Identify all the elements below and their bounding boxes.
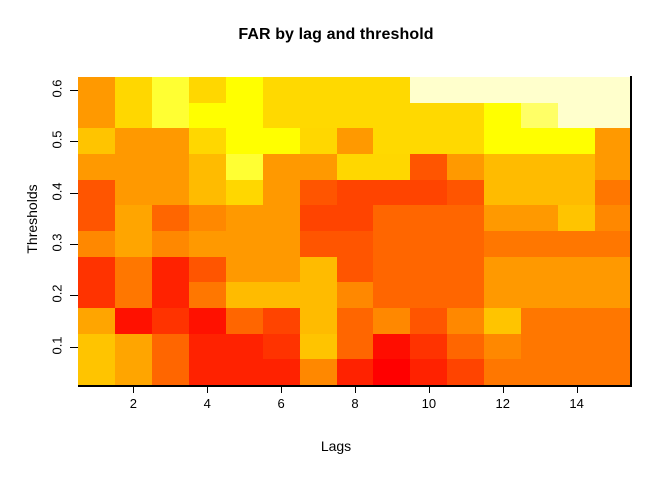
- heatmap-cell: [521, 128, 558, 154]
- heatmap-cell: [484, 77, 521, 103]
- heatmap-cell: [226, 282, 263, 308]
- x-axis-tick: [577, 386, 578, 393]
- heatmap-cell: [115, 334, 152, 360]
- heatmap-cell: [410, 103, 447, 129]
- heatmap-cell: [595, 308, 632, 334]
- heatmap-cell: [484, 308, 521, 334]
- heatmap-cell: [152, 128, 189, 154]
- heatmap-cell: [226, 180, 263, 206]
- heatmap-cell: [373, 180, 410, 206]
- heatmap-cell: [373, 128, 410, 154]
- heatmap-cell: [189, 128, 226, 154]
- heatmap-cell: [78, 77, 115, 103]
- heatmap-cell: [189, 231, 226, 257]
- heatmap-cell: [410, 282, 447, 308]
- heatmap-cell: [337, 180, 374, 206]
- heatmap-cell: [152, 282, 189, 308]
- heatmap-cell: [152, 257, 189, 283]
- heatmap-cell: [373, 103, 410, 129]
- heatmap-cell: [300, 334, 337, 360]
- heatmap-cell: [373, 205, 410, 231]
- heatmap-cell: [447, 257, 484, 283]
- heatmap-cell: [558, 128, 595, 154]
- heatmap-cell: [595, 282, 632, 308]
- heatmap-cell: [410, 205, 447, 231]
- heatmap-cell: [484, 282, 521, 308]
- heatmap-cell: [78, 205, 115, 231]
- heatmap-cell: [78, 180, 115, 206]
- page-title: FAR by lag and threshold: [0, 26, 672, 44]
- heatmap-cell: [300, 359, 337, 385]
- heatmap-cell: [595, 128, 632, 154]
- heatmap-cell: [558, 180, 595, 206]
- heatmap-cell: [115, 103, 152, 129]
- heatmap-cell: [595, 231, 632, 257]
- heatmap-cell: [521, 359, 558, 385]
- heatmap-cell: [189, 359, 226, 385]
- heatmap-cell: [337, 77, 374, 103]
- heatmap-cell: [189, 103, 226, 129]
- heatmap-cell: [189, 154, 226, 180]
- y-axis-tick: [70, 295, 78, 296]
- heatmap-cell: [300, 308, 337, 334]
- heatmap-chart: FAR by lag and threshold 2468101214 0.10…: [0, 0, 672, 480]
- heatmap-cell: [595, 334, 632, 360]
- heatmap-cell: [373, 231, 410, 257]
- heatmap-cell: [226, 334, 263, 360]
- heatmap-cell: [558, 257, 595, 283]
- heatmap-cell: [78, 103, 115, 129]
- heatmap-cell: [521, 308, 558, 334]
- heatmap-cell: [521, 154, 558, 180]
- heatmap-cell: [337, 282, 374, 308]
- heatmap-cell: [300, 180, 337, 206]
- heatmap-cell: [189, 77, 226, 103]
- heatmap-cell: [226, 359, 263, 385]
- heatmap-cell: [152, 154, 189, 180]
- heatmap-cell: [447, 282, 484, 308]
- heatmap-cell: [263, 154, 300, 180]
- heatmap-cell: [447, 128, 484, 154]
- heatmap-cell: [263, 231, 300, 257]
- heatmap-cell: [115, 257, 152, 283]
- heatmap-cell: [521, 257, 558, 283]
- heatmap-cell: [115, 77, 152, 103]
- heatmap-cell: [484, 103, 521, 129]
- x-axis-tick-label: 4: [187, 396, 227, 411]
- heatmap-cell: [337, 205, 374, 231]
- heatmap-cell: [595, 77, 632, 103]
- heatmap-cell: [447, 77, 484, 103]
- heatmap-cell: [78, 282, 115, 308]
- heatmap-cell: [410, 334, 447, 360]
- heatmap-cell: [78, 231, 115, 257]
- heatmap-cell: [484, 205, 521, 231]
- y-axis-tick-label: 0.6: [0, 81, 66, 96]
- heatmap-cell: [558, 282, 595, 308]
- heatmap-cell: [189, 205, 226, 231]
- heatmap-cell: [263, 308, 300, 334]
- heatmap-cell: [595, 257, 632, 283]
- heatmap-cell: [226, 77, 263, 103]
- x-axis-tick: [503, 386, 504, 393]
- y-axis-tick: [70, 193, 78, 194]
- heatmap-cell: [78, 359, 115, 385]
- heatmap-cell: [410, 180, 447, 206]
- y-axis-tick: [70, 244, 78, 245]
- heatmap-cell: [152, 205, 189, 231]
- heatmap-cell: [115, 231, 152, 257]
- heatmap-cell: [337, 154, 374, 180]
- heatmap-cell: [300, 103, 337, 129]
- y-axis-line: [630, 76, 632, 386]
- y-axis-tick: [70, 90, 78, 91]
- heatmap-cell: [189, 257, 226, 283]
- heatmap-cell: [115, 128, 152, 154]
- heatmap-cell: [263, 257, 300, 283]
- heatmap-cell: [410, 359, 447, 385]
- heatmap-cell: [447, 180, 484, 206]
- heatmap-cell: [115, 180, 152, 206]
- heatmap-cell: [447, 154, 484, 180]
- heatmap-cell: [484, 359, 521, 385]
- heatmap-cell: [300, 128, 337, 154]
- heatmap-cell: [484, 231, 521, 257]
- heatmap-cell: [558, 359, 595, 385]
- heatmap-cell: [373, 154, 410, 180]
- heatmap-cell: [447, 205, 484, 231]
- heatmap-cell: [263, 103, 300, 129]
- heatmap-cell: [373, 77, 410, 103]
- heatmap-cell: [115, 154, 152, 180]
- heatmap-cell: [300, 205, 337, 231]
- heatmap-cell: [152, 334, 189, 360]
- heatmap-cell: [373, 282, 410, 308]
- heatmap-cell: [447, 231, 484, 257]
- heatmap-cell: [263, 334, 300, 360]
- heatmap-cell: [558, 308, 595, 334]
- heatmap-cell: [410, 128, 447, 154]
- heatmap-cell: [595, 359, 632, 385]
- heatmap-cell: [373, 257, 410, 283]
- heatmap-cell: [115, 308, 152, 334]
- heatmap-cell: [373, 308, 410, 334]
- heatmap-cell: [300, 77, 337, 103]
- heatmap-cell: [447, 308, 484, 334]
- heatmap-cell: [78, 128, 115, 154]
- heatmap-cell: [263, 205, 300, 231]
- x-axis-tick: [355, 386, 356, 393]
- plot-panel: [78, 77, 632, 385]
- heatmap-cell: [189, 180, 226, 206]
- x-axis-tick-label: 8: [335, 396, 375, 411]
- heatmap-cell: [521, 334, 558, 360]
- heatmap-cell: [558, 334, 595, 360]
- heatmap-cell: [337, 359, 374, 385]
- x-axis-tick-label: 6: [261, 396, 301, 411]
- heatmap-cell: [337, 103, 374, 129]
- heatmap-cell: [263, 180, 300, 206]
- heatmap-cell: [595, 103, 632, 129]
- heatmap-cell: [484, 334, 521, 360]
- heatmap-cell: [189, 282, 226, 308]
- x-axis-tick-label: 14: [557, 396, 597, 411]
- heatmap-cell: [447, 103, 484, 129]
- heatmap-cell: [78, 154, 115, 180]
- x-axis-tick: [281, 386, 282, 393]
- x-axis-tick: [133, 386, 134, 393]
- heatmap-cell: [484, 180, 521, 206]
- x-axis-tick-label: 10: [409, 396, 449, 411]
- heatmap-cell: [263, 77, 300, 103]
- heatmap-cell: [78, 257, 115, 283]
- heatmap-cell: [558, 103, 595, 129]
- y-axis-tick: [70, 347, 78, 348]
- heatmap-cell: [300, 154, 337, 180]
- heatmap-cell: [337, 128, 374, 154]
- heatmap-cell: [78, 334, 115, 360]
- heatmap-cell: [263, 359, 300, 385]
- x-axis-tick-label: 2: [113, 396, 153, 411]
- heatmap-cell: [484, 154, 521, 180]
- heatmap-cell: [447, 334, 484, 360]
- heatmap-cell: [226, 308, 263, 334]
- heatmap-cell: [152, 231, 189, 257]
- heatmap-cell: [558, 154, 595, 180]
- heatmap-cell: [337, 257, 374, 283]
- heatmap-cell: [373, 359, 410, 385]
- heatmap-cell: [521, 205, 558, 231]
- x-axis-title: Lags: [0, 438, 672, 454]
- heatmap-cell: [558, 205, 595, 231]
- heatmap-cell: [152, 359, 189, 385]
- heatmap-cell: [189, 334, 226, 360]
- heatmap-cell: [115, 205, 152, 231]
- heatmap-cell: [595, 180, 632, 206]
- heatmap-cell: [558, 231, 595, 257]
- heatmap-cell: [300, 257, 337, 283]
- heatmap-cell: [337, 308, 374, 334]
- heatmap-cell: [410, 77, 447, 103]
- heatmap-cell: [226, 154, 263, 180]
- heatmap-grid: [78, 77, 632, 385]
- heatmap-cell: [337, 231, 374, 257]
- heatmap-cell: [558, 77, 595, 103]
- heatmap-cell: [595, 154, 632, 180]
- heatmap-cell: [484, 257, 521, 283]
- heatmap-cell: [521, 77, 558, 103]
- heatmap-cell: [263, 282, 300, 308]
- heatmap-cell: [410, 154, 447, 180]
- heatmap-cell: [226, 205, 263, 231]
- heatmap-cell: [152, 77, 189, 103]
- heatmap-cell: [447, 359, 484, 385]
- heatmap-cell: [521, 282, 558, 308]
- heatmap-cell: [337, 334, 374, 360]
- heatmap-cell: [410, 231, 447, 257]
- heatmap-cell: [115, 359, 152, 385]
- heatmap-cell: [373, 334, 410, 360]
- heatmap-cell: [410, 308, 447, 334]
- heatmap-cell: [226, 257, 263, 283]
- heatmap-cell: [263, 128, 300, 154]
- y-axis-title: Thresholds: [24, 139, 40, 299]
- heatmap-cell: [521, 180, 558, 206]
- x-axis-tick: [429, 386, 430, 393]
- heatmap-cell: [521, 231, 558, 257]
- heatmap-cell: [595, 205, 632, 231]
- heatmap-cell: [521, 103, 558, 129]
- x-axis-tick: [207, 386, 208, 393]
- heatmap-cell: [300, 282, 337, 308]
- heatmap-cell: [189, 308, 226, 334]
- heatmap-cell: [226, 103, 263, 129]
- y-axis-tick-label: 0.1: [0, 338, 66, 353]
- heatmap-cell: [115, 282, 152, 308]
- heatmap-cell: [152, 180, 189, 206]
- heatmap-cell: [300, 231, 337, 257]
- y-axis-tick: [70, 141, 78, 142]
- x-axis-tick-label: 12: [483, 396, 523, 411]
- heatmap-cell: [410, 257, 447, 283]
- heatmap-cell: [152, 103, 189, 129]
- heatmap-cell: [226, 128, 263, 154]
- heatmap-cell: [226, 231, 263, 257]
- heatmap-cell: [484, 128, 521, 154]
- heatmap-cell: [152, 308, 189, 334]
- heatmap-cell: [78, 308, 115, 334]
